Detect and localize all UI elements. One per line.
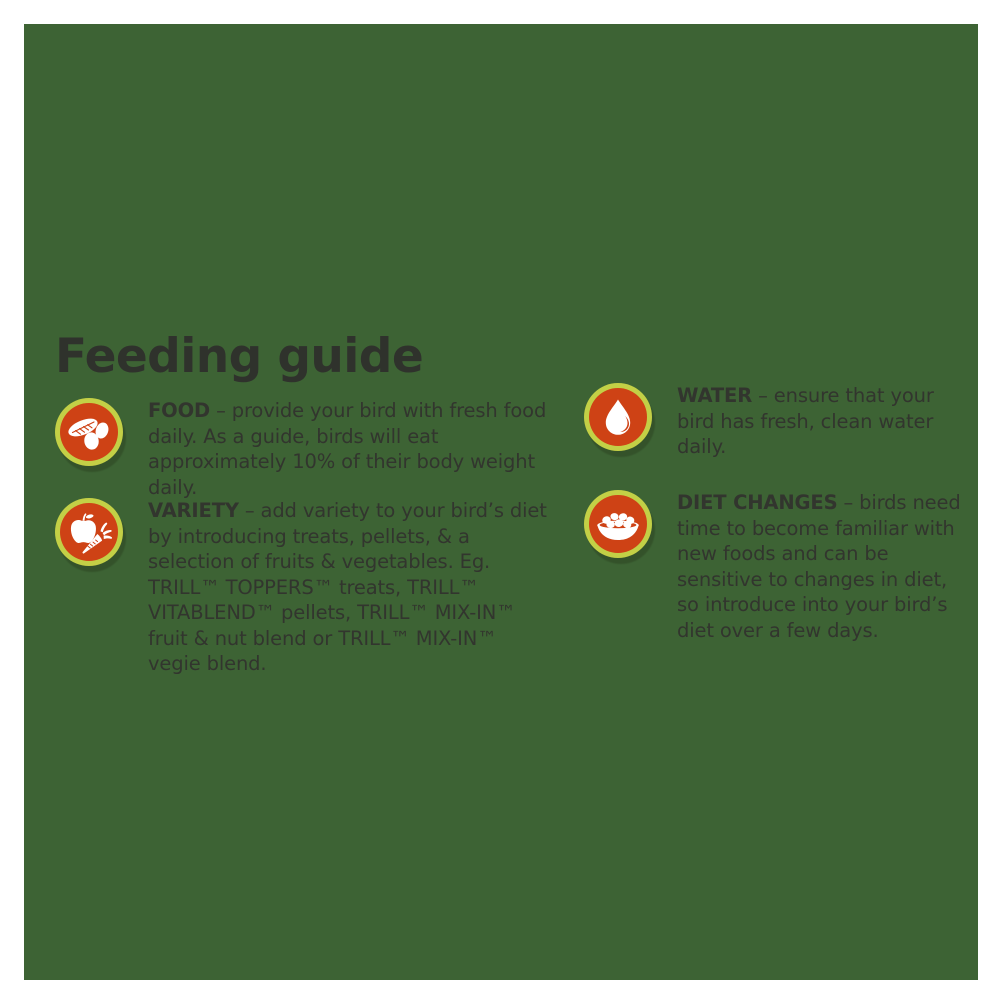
apple-carrot-icon	[55, 498, 123, 566]
feeding-guide-page: Feeding guide	[0, 0, 1000, 1000]
feeding-item-text: DIET CHANGES – birds need time to become…	[677, 490, 974, 643]
feeding-item-text: VARIETY – add variety to your bird’s die…	[148, 498, 555, 677]
left-column: FOOD – provide your bird with fresh food…	[55, 398, 555, 678]
feeding-item-lead: DIET CHANGES	[677, 491, 837, 514]
water-drop-icon	[584, 383, 652, 451]
water-drop-glyph	[589, 388, 647, 446]
feeding-item-lead: WATER	[677, 384, 752, 407]
feeding-item-lead: FOOD	[148, 399, 210, 422]
page-title: Feeding guide	[55, 331, 423, 383]
feeding-item-food: FOOD – provide your bird with fresh food…	[55, 398, 555, 498]
feeding-item-diet-changes: DIET CHANGES – birds need time to become…	[584, 490, 974, 680]
food-bowl-glyph	[589, 495, 647, 553]
feeding-item-water: WATER – ensure that your bird has fresh,…	[584, 383, 974, 490]
feeding-item-body: – add variety to your bird’s diet by int…	[148, 499, 547, 675]
feeding-item-text: FOOD – provide your bird with fresh food…	[148, 398, 555, 500]
seeds-glyph	[60, 403, 118, 461]
feeding-item-variety: VARIETY – add variety to your bird’s die…	[55, 498, 555, 678]
seeds-icon	[55, 398, 123, 466]
apple-carrot-glyph	[60, 503, 118, 561]
right-column: WATER – ensure that your bird has fresh,…	[584, 383, 974, 680]
food-bowl-icon	[584, 490, 652, 558]
feeding-item-text: WATER – ensure that your bird has fresh,…	[677, 383, 974, 460]
feeding-item-lead: VARIETY	[148, 499, 239, 522]
